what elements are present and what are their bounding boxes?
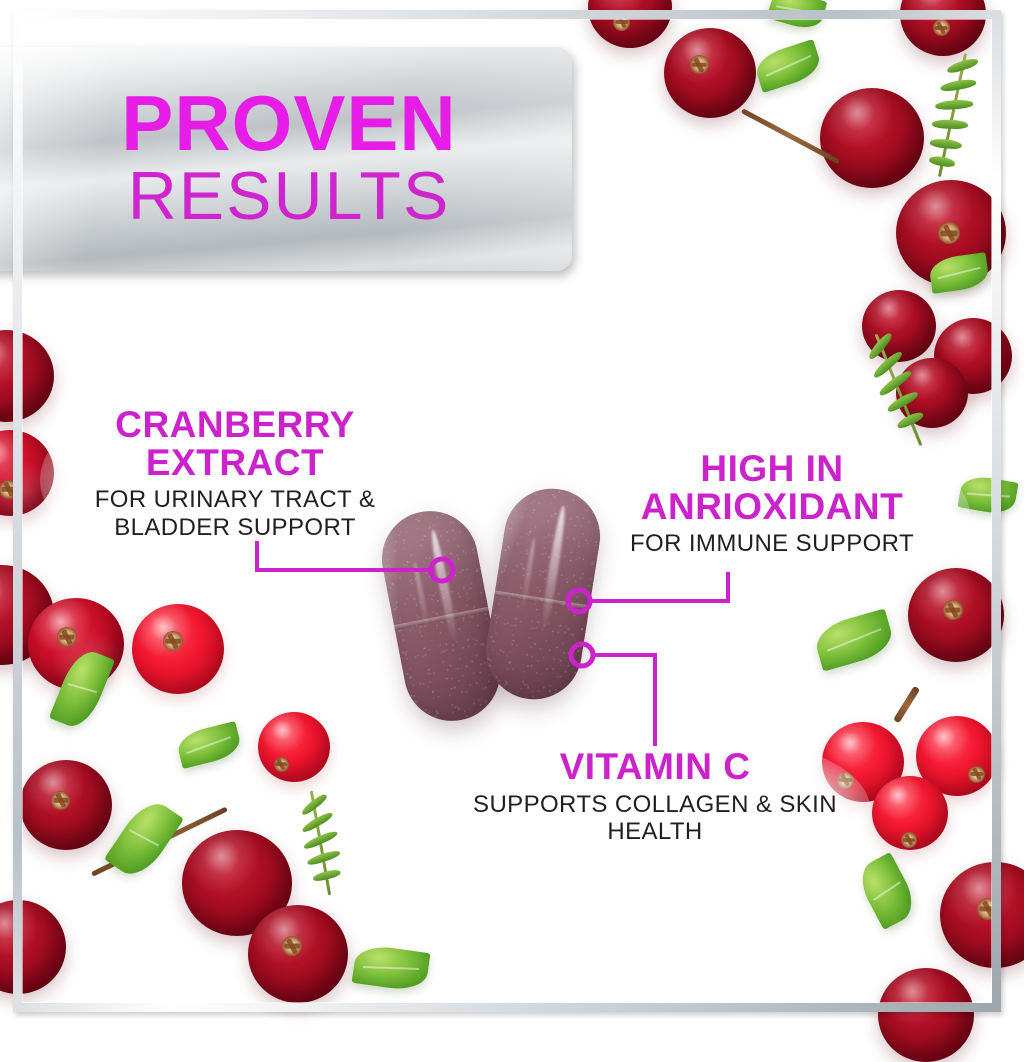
banner-headline-primary: PROVEN	[101, 88, 456, 160]
banner-headline-secondary: RESULTS	[108, 162, 451, 230]
infographic-canvas: PROVEN RESULTS CRANBERRY EXTRACT FOR URI…	[0, 0, 1024, 1024]
